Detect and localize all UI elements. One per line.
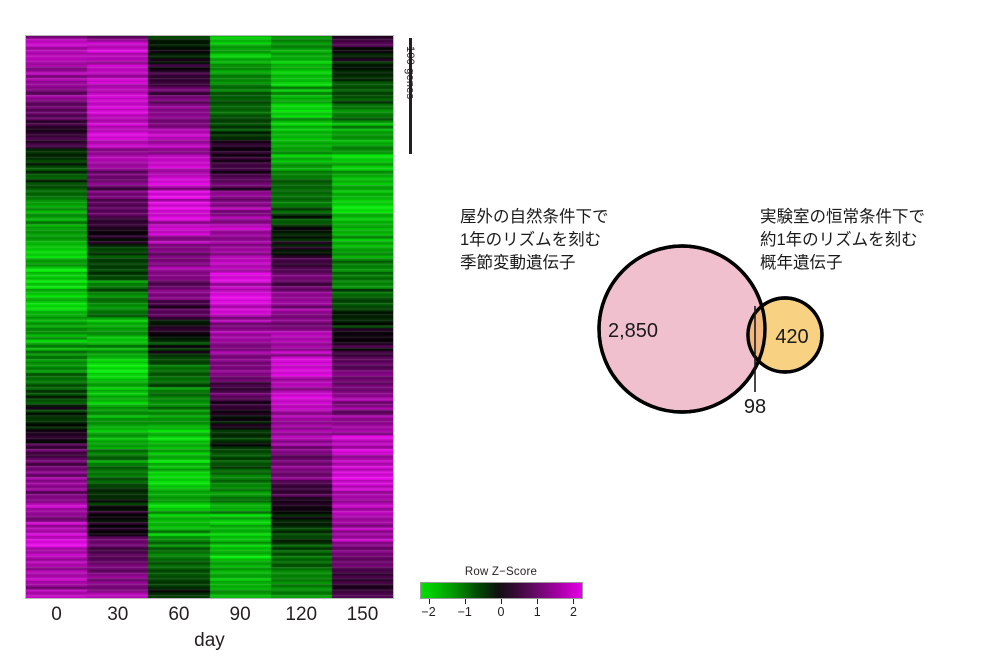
colorbar-gradient xyxy=(420,582,583,599)
colorbar-tick-mark xyxy=(465,599,466,604)
x-tick-label-120: 120 xyxy=(271,604,332,630)
scale-bar-group: 100 genes xyxy=(402,36,442,186)
venn-count-left: 2,850 xyxy=(608,320,658,342)
colorbar-tick-mark xyxy=(429,599,430,604)
x-axis-title: day xyxy=(26,630,393,652)
colorbar-tick-labels: −2 −1 0 1 2 xyxy=(421,605,582,621)
heatmap-canvas xyxy=(26,36,393,598)
venn-svg: 2,850 420 98 xyxy=(440,196,1000,426)
venn-diagram-panel: 屋外の自然条件下で 1年のリズムを刻む 季節変動遺伝子 実験室の恒常条件下で 約… xyxy=(440,196,1000,426)
x-axis-tick-labels: 0 30 60 90 120 150 xyxy=(26,604,393,630)
colorbar-tick-mark xyxy=(501,599,502,604)
x-tick-label-150: 150 xyxy=(332,604,393,630)
venn-count-intersection: 98 xyxy=(744,396,766,418)
colorbar-title: Row Z−Score xyxy=(418,566,584,579)
figure-root: 100 genes 0 30 60 90 120 150 day Row Z−S… xyxy=(0,0,1000,665)
x-tick-label-60: 60 xyxy=(148,604,209,630)
colorbar-tick-label-minus2: −2 xyxy=(421,605,435,619)
colorbar-tick-label-two: 2 xyxy=(570,605,577,619)
x-tick-label-30: 30 xyxy=(87,604,148,630)
venn-count-right: 420 xyxy=(775,326,808,348)
scale-bar-label: 100 genes xyxy=(404,46,416,99)
x-tick-label-0: 0 xyxy=(26,604,87,630)
colorbar-legend: Row Z−Score −2 −1 0 1 2 xyxy=(418,566,584,626)
gene-expression-heatmap xyxy=(26,36,393,598)
colorbar-tick-mark xyxy=(573,599,574,604)
colorbar-tick-mark xyxy=(537,599,538,604)
colorbar-tick-label-one: 1 xyxy=(534,605,541,619)
colorbar-tick-label-minus1: −1 xyxy=(458,605,472,619)
x-tick-label-90: 90 xyxy=(210,604,271,630)
colorbar-tick-label-zero: 0 xyxy=(498,605,505,619)
